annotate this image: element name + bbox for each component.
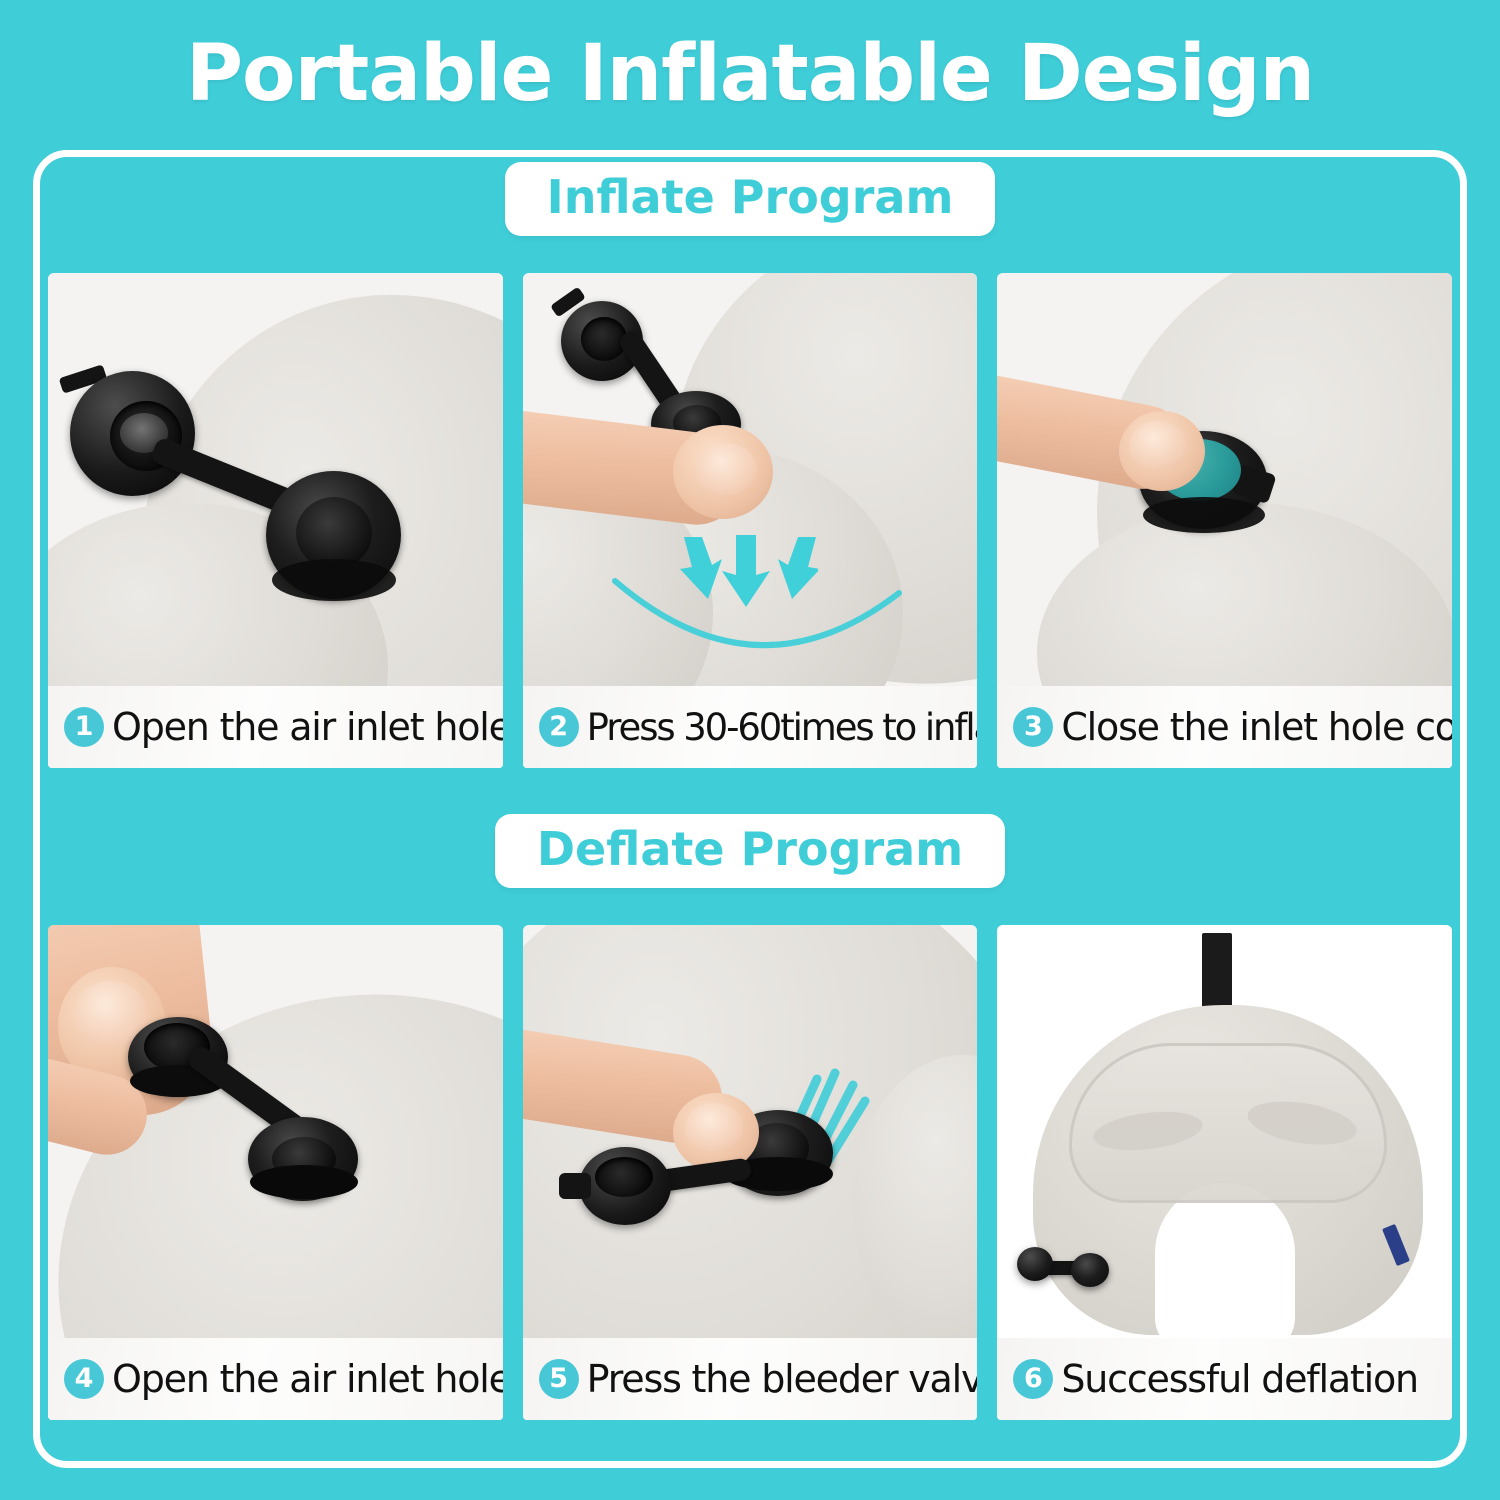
press-arc-icon bbox=[607, 573, 907, 683]
valve-cap-icon bbox=[1017, 1247, 1053, 1281]
step-number-badge: 2 bbox=[539, 707, 579, 747]
valve-base-shadow bbox=[1143, 497, 1265, 533]
step-3-caption: 3 Close the inlet hole cover bbox=[997, 686, 1452, 768]
fingernail bbox=[695, 443, 757, 495]
deflate-program-pill: Deflate Program bbox=[495, 814, 1005, 888]
inflate-step-row: 1 Open the air inlet hole bbox=[48, 273, 1452, 768]
step-caption-text: Open the air inlet hole bbox=[112, 705, 503, 749]
step-caption-text: Open the air inlet hole bbox=[112, 1357, 503, 1401]
page-title: Portable Inflatable Design bbox=[0, 34, 1500, 116]
step-panel-2: 2 Press 30-60times to inflate bbox=[523, 273, 978, 768]
section-inflate: Inflate Program bbox=[0, 153, 1500, 245]
step-6-caption: 6 Successful deflation bbox=[997, 1338, 1452, 1420]
step-1-photo bbox=[48, 273, 503, 686]
air-inlet-ring-shadow bbox=[272, 559, 396, 601]
step-5-photo bbox=[523, 925, 978, 1338]
step-caption-text: Press the bleeder valve bbox=[587, 1357, 978, 1401]
deflate-step-row: 4 Open the air inlet hole bbox=[48, 925, 1452, 1420]
step-1-caption: 1 Open the air inlet hole bbox=[48, 686, 503, 768]
air-inlet-ring-shadow bbox=[250, 1165, 358, 1199]
step-caption-text: Successful deflation bbox=[1061, 1357, 1418, 1401]
fingernail bbox=[685, 1103, 743, 1151]
hanging-strap bbox=[1202, 933, 1232, 1011]
step-4-photo bbox=[48, 925, 503, 1338]
step-number-badge: 5 bbox=[539, 1359, 579, 1399]
step-panel-4: 4 Open the air inlet hole bbox=[48, 925, 503, 1420]
section-deflate: Deflate Program bbox=[0, 805, 1500, 897]
step-panel-6: 6 Successful deflation bbox=[997, 925, 1452, 1420]
deflate-header: Deflate Program bbox=[0, 805, 1500, 897]
valve-pull-tab-icon bbox=[559, 1173, 591, 1199]
step-2-photo bbox=[523, 273, 978, 686]
step-panel-3: 3 Close the inlet hole cover bbox=[997, 273, 1452, 768]
u-pillow-neck-cutout bbox=[1155, 1183, 1295, 1338]
step-panel-5: 5 Press the bleeder valve bbox=[523, 925, 978, 1420]
step-number-badge: 1 bbox=[64, 707, 104, 747]
step-5-caption: 5 Press the bleeder valve bbox=[523, 1338, 978, 1420]
step-3-photo bbox=[997, 273, 1452, 686]
step-2-caption: 2 Press 30-60times to inflate bbox=[523, 686, 978, 768]
step-6-photo bbox=[997, 925, 1452, 1338]
valve-cap-cavity-icon bbox=[595, 1157, 653, 1197]
fingernail bbox=[1129, 421, 1187, 469]
step-caption-text: Close the inlet hole cover bbox=[1061, 705, 1452, 749]
step-number-badge: 4 bbox=[64, 1359, 104, 1399]
step-caption-text: Press 30-60times to inflate bbox=[587, 706, 978, 749]
inflate-program-pill: Inflate Program bbox=[505, 162, 996, 236]
inflate-header: Inflate Program bbox=[0, 153, 1500, 245]
step-panel-1: 1 Open the air inlet hole bbox=[48, 273, 503, 768]
step-4-caption: 4 Open the air inlet hole bbox=[48, 1338, 503, 1420]
